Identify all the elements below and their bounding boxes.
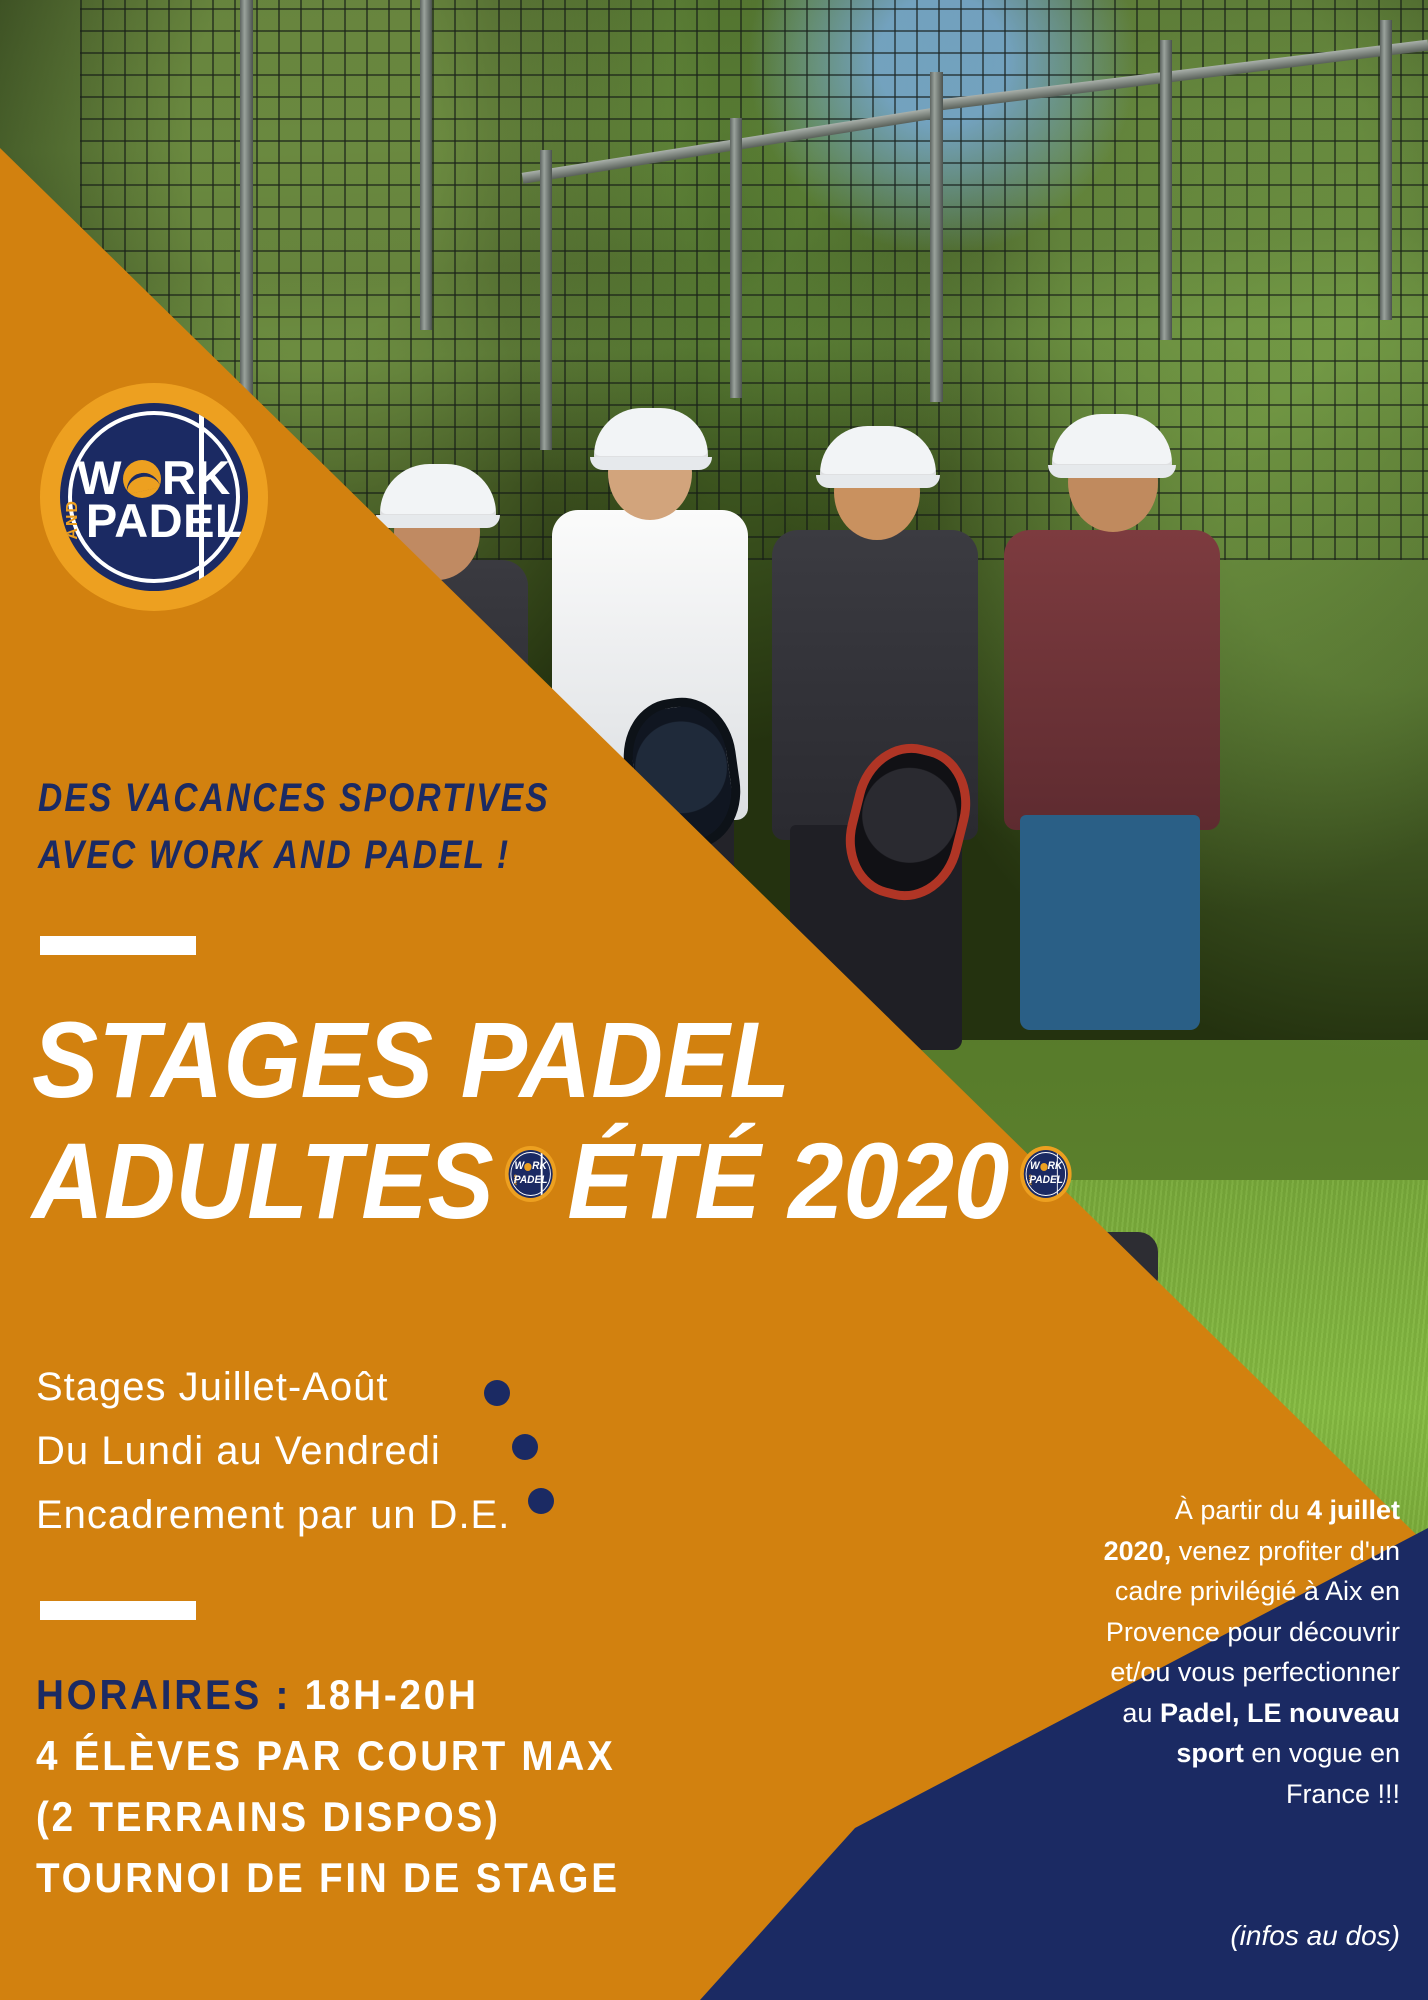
tennis-ball-icon [123, 460, 161, 498]
headline-ete-text: ÉTÉ 2020 [567, 1121, 1009, 1242]
headline-line-1-text: STAGES PADEL [32, 1000, 790, 1121]
mini-logo-inner-2: WRK AND PADEL [1024, 1150, 1068, 1198]
dot-2 [512, 1434, 538, 1460]
mini-logo-work-1: WRK [509, 1161, 553, 1172]
headline-adultes-text: ADULTES [32, 1121, 494, 1242]
right-para-part-3: en vogue en France !!! [1244, 1738, 1400, 1809]
info-line-2: Du Lundi au Vendredi [36, 1419, 676, 1483]
right-para-part-1: À partir du [1175, 1495, 1307, 1525]
poster-content: W RK AND PADEL DES VACANCES SPORTIVES AV… [0, 0, 1428, 2000]
dot-3 [528, 1488, 554, 1514]
info-line-3: Encadrement par un D.E. [36, 1483, 676, 1547]
right-description-paragraph: À partir du 4 juillet 2020, venez profit… [1100, 1490, 1400, 1814]
poster: W RK AND PADEL DES VACANCES SPORTIVES AV… [0, 0, 1428, 2000]
mini-logo-badge-1: WRK AND PADEL [505, 1146, 557, 1202]
horaires-line-4: TOURNOI DE FIN DE STAGE [36, 1848, 698, 1909]
logo-inner-circle: W RK AND PADEL [60, 403, 248, 591]
infos-au-dos-note: (infos au dos) [1100, 1920, 1400, 1952]
divider-rule-top [40, 936, 196, 955]
logo-padel-text: PADEL [86, 499, 244, 544]
mini-logo-padel-1: PADEL [509, 1175, 553, 1186]
divider-rule-bottom [40, 1601, 196, 1620]
horaires-line-2: 4 ÉLÈVES PAR COURT MAX [36, 1726, 698, 1787]
info-line-1: Stages Juillet-Août [36, 1355, 676, 1419]
headline: STAGES PADEL ADULTES WRK AND PADEL ÉTÉ 2… [32, 1000, 1032, 1242]
horaires-line-1: HORAIRES : 18H-20H [36, 1665, 698, 1726]
mini-tennis-ball-icon-2 [1040, 1163, 1047, 1171]
dot-1 [484, 1380, 510, 1406]
mini-logo-inner-1: WRK AND PADEL [509, 1150, 553, 1198]
tagline: DES VACANCES SPORTIVES AVEC WORK AND PAD… [38, 770, 676, 884]
horaires-line-3: (2 TERRAINS DISPOS) [36, 1787, 698, 1848]
mini-logo-work-2: WRK [1024, 1161, 1068, 1172]
tagline-line-1: DES VACANCES SPORTIVES [38, 770, 676, 827]
horaires-block: HORAIRES : 18H-20H 4 ÉLÈVES PAR COURT MA… [36, 1665, 698, 1909]
logo-padel-row: AND PADEL [64, 499, 244, 544]
tagline-line-2: AVEC WORK AND PADEL ! [38, 827, 676, 884]
mini-tennis-ball-icon-1 [524, 1163, 531, 1171]
mini-logo-padel-2: PADEL [1024, 1175, 1068, 1186]
horaires-label: HORAIRES : [36, 1671, 291, 1718]
horaires-hours: 18H-20H [305, 1671, 479, 1718]
headline-line-2: ADULTES WRK AND PADEL ÉTÉ 2020 W [32, 1121, 952, 1242]
decorative-dots [480, 1380, 570, 1530]
logo-and-text: AND [64, 499, 82, 540]
mini-logo-badge-2: WRK AND PADEL [1020, 1146, 1072, 1202]
headline-line-1: STAGES PADEL [32, 1000, 952, 1121]
info-block: Stages Juillet-Août Du Lundi au Vendredi… [36, 1355, 676, 1547]
work-and-padel-logo: W RK AND PADEL [40, 383, 268, 611]
